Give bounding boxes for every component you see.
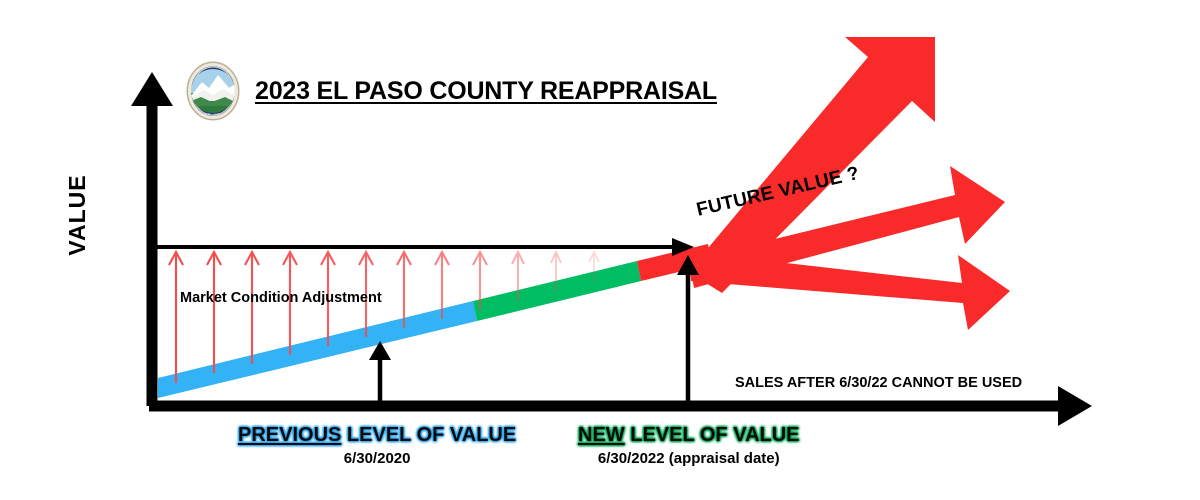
new-level-reference-line — [152, 238, 694, 256]
page-title: 2023 EL PASO COUNTY REAPPRAISAL — [255, 77, 717, 106]
y-axis-label: VALUE — [64, 145, 91, 285]
future-down-arrow — [689, 252, 1010, 330]
caption-new-level: NEW LEVEL OF VALUE 6/30/2022 (appraisal … — [578, 423, 800, 471]
sales-cutoff-note: SALES AFTER 6/30/22 CANNOT BE USED — [735, 375, 1022, 391]
caption-new-date: 6/30/2022 (appraisal date) — [578, 448, 800, 471]
seal-est-text: EST. 1861 — [201, 112, 225, 117]
caption-previous-emphasis: PREVIOUS — [238, 424, 341, 446]
title-block: EST. 1861 2023 EL PASO COUNTY REAPPRAISA… — [185, 60, 717, 122]
caption-previous-level: PREVIOUS LEVEL OF VALUE 6/30/2020 — [238, 423, 516, 471]
caption-new-title: NEW LEVEL OF VALUE — [578, 423, 800, 448]
reappraisal-chart: EST. 1861 2023 EL PASO COUNTY REAPPRAISA… — [0, 0, 1200, 500]
trend-segment-previous — [158, 301, 477, 398]
caption-new-rest: LEVEL OF VALUE — [625, 424, 800, 446]
el-paso-county-seal-icon: EST. 1861 — [185, 60, 241, 122]
trend-segment-adjustment — [473, 261, 641, 321]
y-axis — [131, 72, 173, 406]
caption-previous-rest: LEVEL OF VALUE — [341, 424, 516, 446]
x-axis — [149, 386, 1092, 426]
date-marker-previous — [369, 341, 391, 406]
market-condition-adjustment-label: Market Condition Adjustment — [180, 290, 382, 306]
caption-new-emphasis: NEW — [578, 424, 625, 446]
caption-previous-title: PREVIOUS LEVEL OF VALUE — [238, 423, 516, 448]
caption-previous-date: 6/30/2020 — [238, 448, 516, 471]
trend-line — [158, 244, 712, 398]
